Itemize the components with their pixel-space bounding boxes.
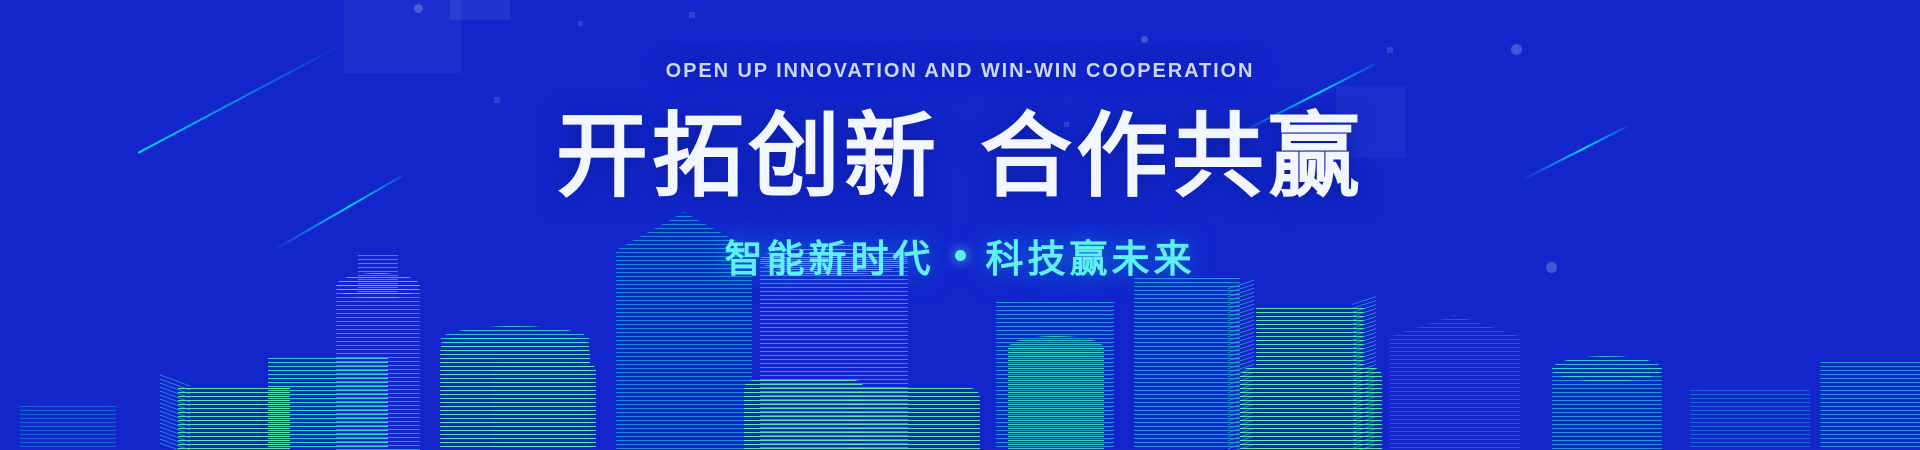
headline-part-1: 开拓创新 <box>556 106 940 208</box>
banner-subtitle: 智能新时代 科技赢未来 <box>724 228 1195 283</box>
subtitle-right-text: 科技赢未来 <box>986 228 1196 283</box>
banner-headline: 开拓创新合作共赢 <box>556 109 1364 206</box>
banner-eyebrow-text: OPEN UP INNOVATION AND WIN-WIN COOPERATI… <box>666 60 1255 83</box>
headline-part-2: 合作共赢 <box>980 106 1364 208</box>
banner-content: OPEN UP INNOVATION AND WIN-WIN COOPERATI… <box>0 0 1920 450</box>
hero-banner: OPEN UP INNOVATION AND WIN-WIN COOPERATI… <box>0 0 1920 450</box>
subtitle-separator-dot-icon <box>955 250 966 261</box>
subtitle-left-text: 智能新时代 <box>724 228 934 283</box>
